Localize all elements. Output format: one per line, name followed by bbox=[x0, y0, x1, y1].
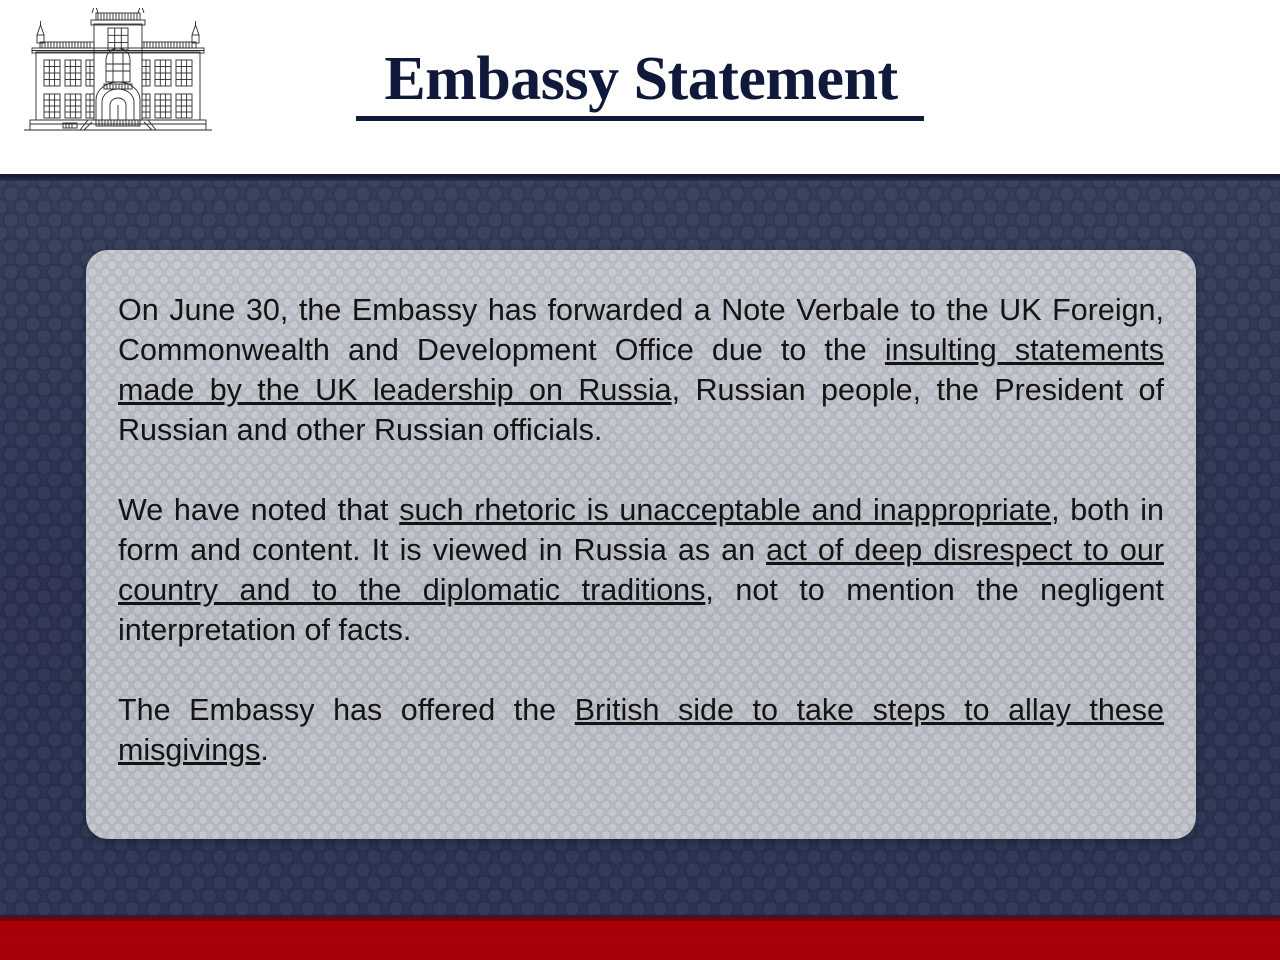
plain-run: . bbox=[260, 733, 268, 767]
plain-run: We have noted that bbox=[118, 493, 399, 527]
page-title: Embassy Statement bbox=[356, 44, 926, 114]
slide-title-block: Embassy Statement bbox=[356, 44, 926, 130]
slide-canvas: Embassy Statement On June 30, the Embass… bbox=[0, 0, 1280, 960]
statement-body-text: On June 30, the Embassy has forwarded a … bbox=[118, 290, 1164, 770]
paragraph-3: The Embassy has offered the British side… bbox=[118, 690, 1164, 770]
statement-content-panel: On June 30, the Embassy has forwarded a … bbox=[86, 250, 1196, 839]
header-divider bbox=[0, 174, 1280, 181]
plain-run: The Embassy has offered the bbox=[118, 693, 575, 727]
embassy-building-icon bbox=[18, 8, 218, 134]
emphasized-run: such rhetoric is unacceptable and inappr… bbox=[399, 493, 1051, 527]
title-underline-rule bbox=[356, 116, 924, 121]
paragraph-2: We have noted that such rhetoric is unac… bbox=[118, 490, 1164, 650]
footer-red-bar bbox=[0, 921, 1280, 960]
paragraph-1: On June 30, the Embassy has forwarded a … bbox=[118, 290, 1164, 450]
slide-header: Embassy Statement bbox=[0, 0, 1280, 174]
